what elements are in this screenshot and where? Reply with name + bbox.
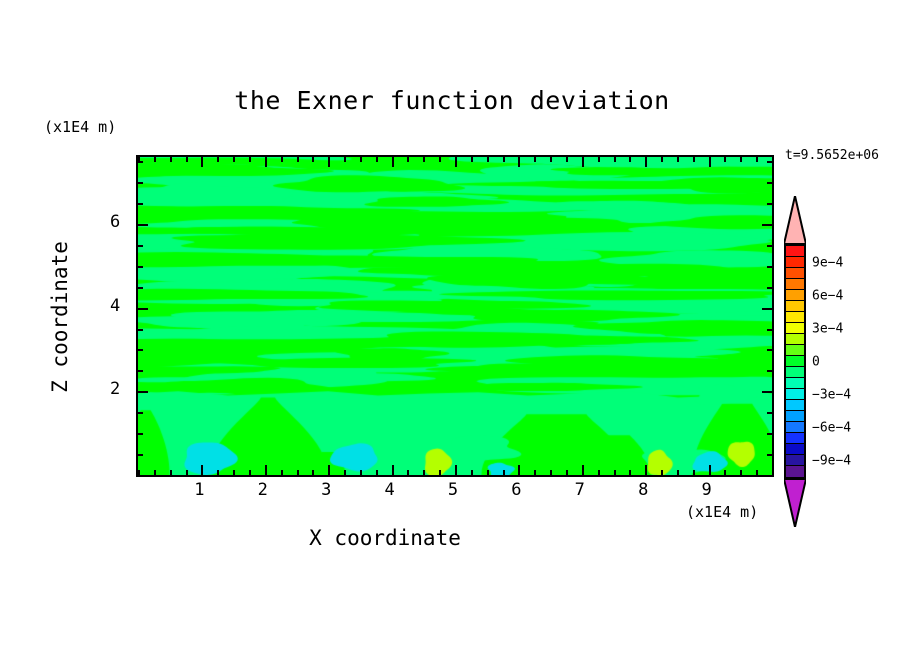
axis-tick: [138, 433, 143, 435]
axis-tick: [503, 157, 505, 162]
colorbar-band: [786, 466, 804, 477]
axis-tick: [360, 470, 362, 475]
axis-tick: [297, 470, 299, 475]
axis-tick: [360, 157, 362, 162]
colorbar-band: [786, 411, 804, 422]
colorbar-under-arrow-icon: [784, 479, 806, 527]
axis-tick: [661, 470, 663, 475]
y-axis-unit-label: (x1E4 m): [44, 118, 116, 136]
axis-tick: [693, 470, 695, 475]
axis-tick: [487, 470, 489, 475]
axis-tick: [138, 287, 143, 289]
axis-tick: [582, 465, 584, 475]
x-tick-label: 4: [384, 480, 394, 500]
axis-tick: [598, 157, 600, 162]
axis-tick: [249, 157, 251, 162]
colorbar-band: [786, 257, 804, 268]
colorbar-tick-label: −3e−4: [812, 387, 851, 402]
y-tick-label: 2: [110, 379, 120, 399]
axis-tick: [629, 470, 631, 475]
axis-tick: [281, 157, 283, 162]
axis-tick: [767, 412, 772, 414]
colorbar-band: [786, 400, 804, 411]
colorbar-band: [786, 455, 804, 466]
axis-tick: [762, 308, 772, 310]
axis-tick: [767, 245, 772, 247]
axis-tick: [677, 157, 679, 162]
colorbar-band-stack: [784, 244, 806, 479]
axis-tick: [471, 157, 473, 162]
axis-tick: [439, 470, 441, 475]
axis-tick: [693, 157, 695, 162]
contour-field-canvas: [138, 157, 772, 475]
y-tick-label: 6: [110, 212, 120, 232]
axis-tick: [645, 465, 647, 475]
contour-plot-area[interactable]: [136, 155, 774, 477]
axis-tick: [740, 470, 742, 475]
axis-tick: [138, 412, 143, 414]
colorbar-tick-label: −9e−4: [812, 453, 851, 468]
colorbar-band: [786, 279, 804, 290]
axis-tick: [328, 157, 330, 167]
colorbar-band: [786, 389, 804, 400]
x-axis-title: X coordinate: [0, 526, 770, 550]
colorbar-band: [786, 444, 804, 455]
axis-tick: [217, 157, 219, 162]
axis-tick: [518, 157, 520, 167]
axis-tick: [740, 157, 742, 162]
axis-tick: [138, 203, 143, 205]
x-tick-label: 1: [194, 480, 204, 500]
y-axis-title: Z coordinate: [48, 217, 72, 417]
axis-tick: [614, 157, 616, 162]
axis-tick: [767, 329, 772, 331]
colorbar-tick-label: −6e−4: [812, 420, 851, 435]
axis-tick: [344, 157, 346, 162]
colorbar-band: [786, 301, 804, 312]
axis-tick: [566, 470, 568, 475]
axis-tick: [661, 157, 663, 162]
axis-tick: [265, 157, 267, 167]
axis-tick: [344, 470, 346, 475]
axis-tick: [392, 157, 394, 167]
axis-tick: [772, 470, 774, 475]
axis-tick: [471, 470, 473, 475]
colorbar-band: [786, 367, 804, 378]
axis-tick: [518, 465, 520, 475]
x-tick-label: 6: [511, 480, 521, 500]
axis-tick: [376, 470, 378, 475]
axis-tick: [767, 454, 772, 456]
x-axis-unit-label: (x1E4 m): [686, 503, 758, 521]
axis-tick: [170, 157, 172, 162]
axis-tick: [598, 470, 600, 475]
x-tick-label: 8: [638, 480, 648, 500]
colorbar-tick-label: 0: [812, 354, 820, 369]
axis-tick: [217, 470, 219, 475]
axis-tick: [249, 470, 251, 475]
axis-tick: [201, 465, 203, 475]
axis-tick: [645, 157, 647, 167]
axis-tick: [455, 465, 457, 475]
axis-tick: [138, 266, 143, 268]
axis-tick: [709, 157, 711, 167]
y-tick-label: 4: [110, 296, 120, 316]
colorbar-band: [786, 345, 804, 356]
axis-tick: [407, 157, 409, 162]
axis-tick: [724, 470, 726, 475]
axis-tick: [138, 182, 143, 184]
axis-tick: [328, 465, 330, 475]
axis-tick: [233, 470, 235, 475]
axis-tick: [281, 470, 283, 475]
axis-tick: [582, 157, 584, 167]
axis-tick: [154, 157, 156, 162]
axis-tick: [772, 157, 774, 162]
colorbar-band: [786, 422, 804, 433]
axis-tick: [138, 245, 143, 247]
axis-tick: [423, 157, 425, 162]
axis-tick: [767, 475, 772, 477]
axis-tick: [762, 391, 772, 393]
axis-tick: [629, 157, 631, 162]
colorbar-band: [786, 356, 804, 367]
colorbar-band: [786, 323, 804, 334]
colorbar-tick-label: 3e−4: [812, 321, 843, 336]
axis-tick: [550, 157, 552, 162]
axis-tick: [138, 308, 148, 310]
axis-tick: [566, 157, 568, 162]
axis-tick: [297, 157, 299, 162]
axis-tick: [138, 329, 143, 331]
time-annotation: t=9.5652e+06: [785, 148, 879, 163]
axis-tick: [762, 224, 772, 226]
axis-tick: [756, 157, 758, 162]
axis-tick: [138, 161, 143, 163]
axis-tick: [138, 391, 148, 393]
colorbar-band: [786, 246, 804, 257]
axis-tick: [265, 465, 267, 475]
axis-tick: [423, 470, 425, 475]
axis-tick: [767, 203, 772, 205]
colorbar-tick-label: 9e−4: [812, 255, 843, 270]
colorbar-band: [786, 334, 804, 345]
axis-tick: [186, 470, 188, 475]
axis-tick: [138, 370, 143, 372]
axis-tick: [534, 157, 536, 162]
axis-tick: [138, 454, 143, 456]
axis-tick: [487, 157, 489, 162]
axis-tick: [439, 157, 441, 162]
colorbar-over-arrow-icon: [784, 196, 806, 244]
axis-tick: [138, 349, 143, 351]
axis-tick: [138, 224, 148, 226]
page-title: the Exner function deviation: [0, 86, 904, 115]
axis-tick: [503, 470, 505, 475]
axis-tick: [154, 470, 156, 475]
axis-tick: [614, 470, 616, 475]
x-tick-label: 7: [575, 480, 585, 500]
colorbar-band: [786, 290, 804, 301]
axis-tick: [392, 465, 394, 475]
axis-tick: [767, 266, 772, 268]
colorbar[interactable]: 9e−46e−43e−40−3e−4−6e−4−9e−4: [780, 196, 900, 516]
x-tick-label: 9: [701, 480, 711, 500]
axis-tick: [376, 157, 378, 162]
axis-tick: [138, 475, 143, 477]
x-tick-label: 5: [448, 480, 458, 500]
axis-tick: [312, 157, 314, 162]
axis-tick: [677, 470, 679, 475]
axis-tick: [233, 157, 235, 162]
axis-tick: [455, 157, 457, 167]
axis-tick: [767, 433, 772, 435]
axis-tick: [201, 157, 203, 167]
colorbar-tick-label: 6e−4: [812, 288, 843, 303]
axis-tick: [170, 470, 172, 475]
axis-tick: [550, 470, 552, 475]
colorbar-band: [786, 268, 804, 279]
axis-tick: [767, 287, 772, 289]
axis-tick: [756, 470, 758, 475]
x-tick-label: 3: [321, 480, 331, 500]
colorbar-band: [786, 378, 804, 389]
axis-tick: [407, 470, 409, 475]
axis-tick: [724, 157, 726, 162]
axis-tick: [767, 370, 772, 372]
axis-tick: [767, 182, 772, 184]
axis-tick: [186, 157, 188, 162]
axis-tick: [534, 470, 536, 475]
colorbar-band: [786, 433, 804, 444]
axis-tick: [767, 349, 772, 351]
x-tick-label: 2: [258, 480, 268, 500]
colorbar-band: [786, 312, 804, 323]
axis-tick: [312, 470, 314, 475]
axis-tick: [709, 465, 711, 475]
axis-tick: [767, 161, 772, 163]
